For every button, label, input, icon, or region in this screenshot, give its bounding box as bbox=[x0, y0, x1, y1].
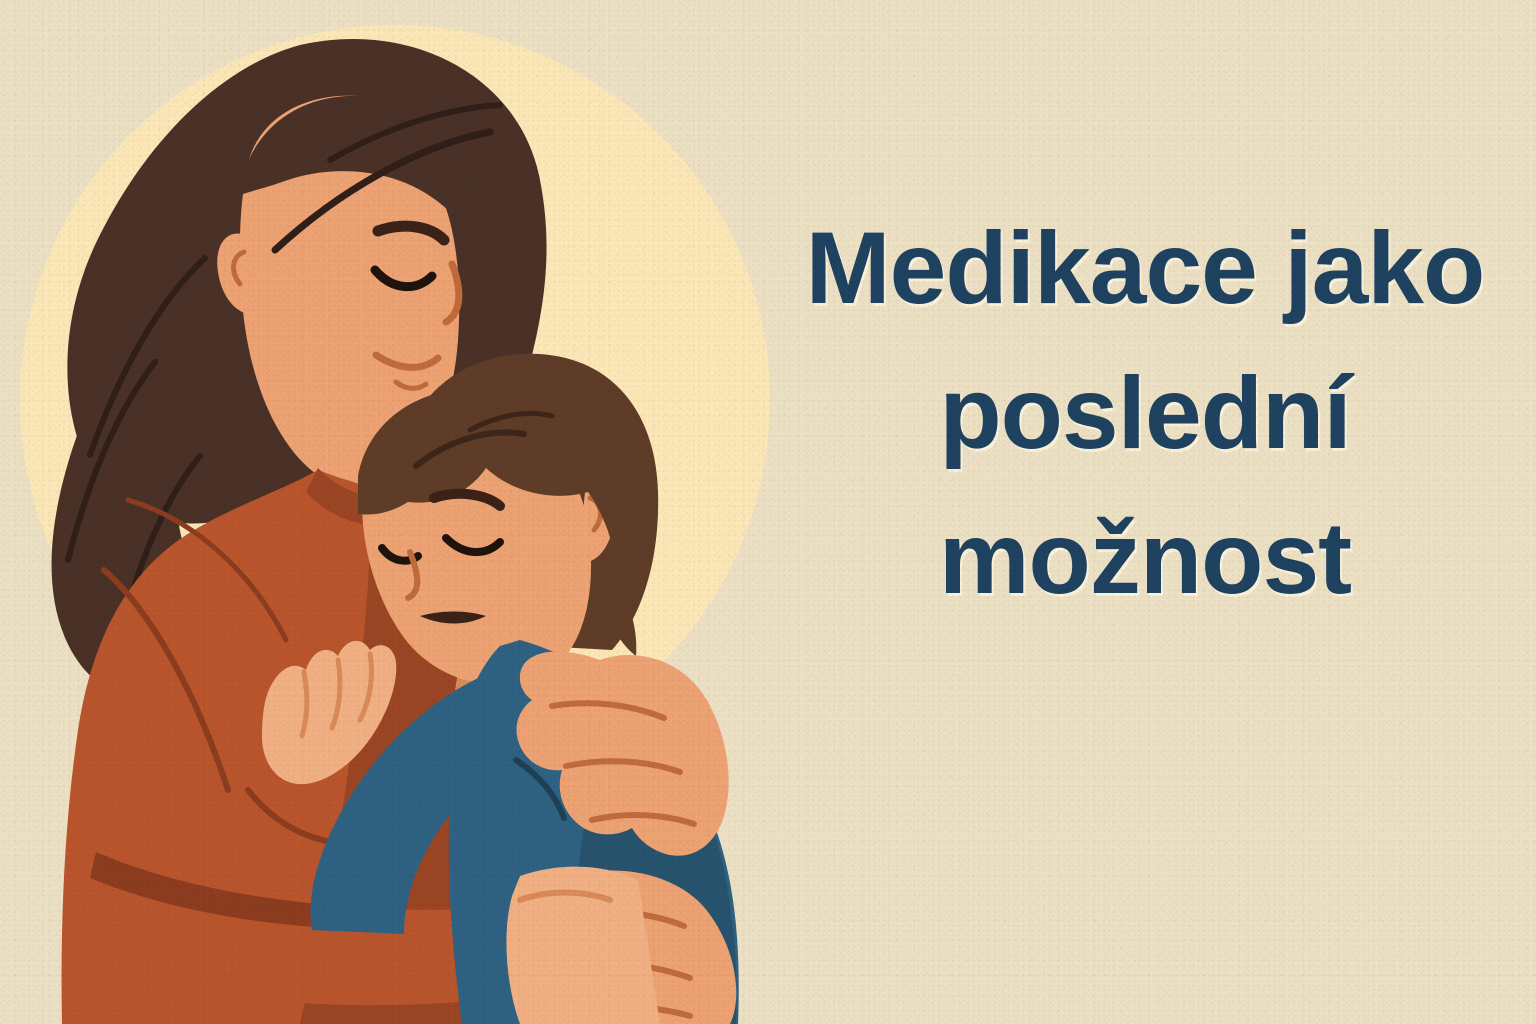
mother-forearm-skin bbox=[506, 867, 660, 1024]
illustration-mother-hugging-child bbox=[0, 0, 800, 1024]
page-title: Medikace jako poslední možnost bbox=[795, 196, 1495, 630]
poster-canvas: Medikace jako poslední možnost bbox=[0, 0, 1536, 1024]
